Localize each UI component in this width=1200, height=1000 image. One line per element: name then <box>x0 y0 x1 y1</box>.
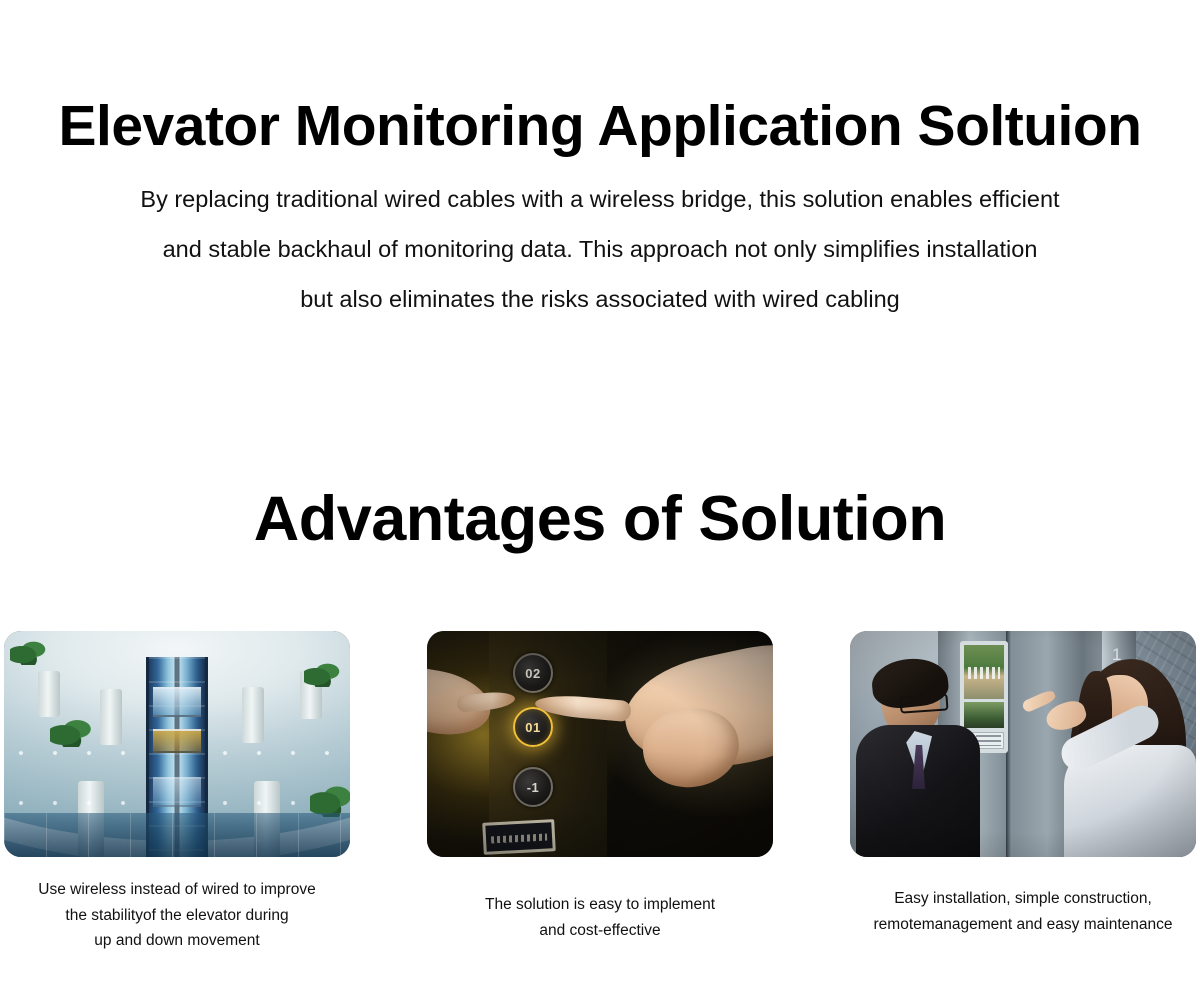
caption-line: and cost-effective <box>427 918 773 944</box>
elevator-cab <box>153 687 201 717</box>
plant <box>50 717 94 747</box>
hero-subtitle: By replacing traditional wired cables wi… <box>85 174 1115 324</box>
caption-line: remotemanagement and easy maintenance <box>850 912 1196 938</box>
plant <box>310 783 350 817</box>
card-caption: Easy installation, simple construction, … <box>850 857 1196 937</box>
pillar <box>242 687 264 743</box>
page-title: Elevator Monitoring Application Soltuion <box>0 92 1200 160</box>
hero-section: Elevator Monitoring Application Soltuion… <box>0 0 1200 324</box>
advantage-card: 02 01 -1 The solution is easy to impleme… <box>427 631 773 943</box>
caption-line: Use wireless instead of wired to improve <box>4 877 350 903</box>
advantage-card: 1 <box>850 631 1196 937</box>
subtitle-line-3: but also eliminates the risks associated… <box>85 274 1115 324</box>
elevator-buttons-image: 02 01 -1 <box>427 631 773 857</box>
elevator-cab <box>153 729 201 753</box>
ground-floor-glass <box>4 813 350 857</box>
advantage-card: Use wireless instead of wired to improve… <box>4 631 350 954</box>
caption-line: The solution is easy to implement <box>427 892 773 918</box>
vignette-overlay <box>850 631 1196 857</box>
plant <box>304 661 342 687</box>
section-heading: Advantages of Solution <box>0 324 1200 556</box>
advantage-cards: Use wireless instead of wired to improve… <box>0 631 1200 961</box>
pillar <box>100 689 122 745</box>
atrium-elevator-image <box>4 631 350 857</box>
vignette-overlay <box>427 631 773 857</box>
caption-line: the stabilityof the elevator during <box>4 903 350 929</box>
card-caption: The solution is easy to implement and co… <box>427 857 773 943</box>
lobby-illustration: 1 <box>850 631 1196 857</box>
card-caption: Use wireless instead of wired to improve… <box>4 857 350 954</box>
elevator-cab <box>153 777 201 807</box>
subtitle-line-1: By replacing traditional wired cables wi… <box>85 174 1115 224</box>
button-panel-illustration: 02 01 -1 <box>427 631 773 857</box>
subtitle-line-2: and stable backhaul of monitoring data. … <box>85 224 1115 274</box>
atrium-illustration <box>4 631 350 857</box>
plant <box>10 639 48 665</box>
caption-line: Easy installation, simple construction, <box>850 886 1196 912</box>
elevator-lobby-image: 1 <box>850 631 1196 857</box>
pillar <box>38 671 60 717</box>
caption-line: up and down movement <box>4 928 350 954</box>
